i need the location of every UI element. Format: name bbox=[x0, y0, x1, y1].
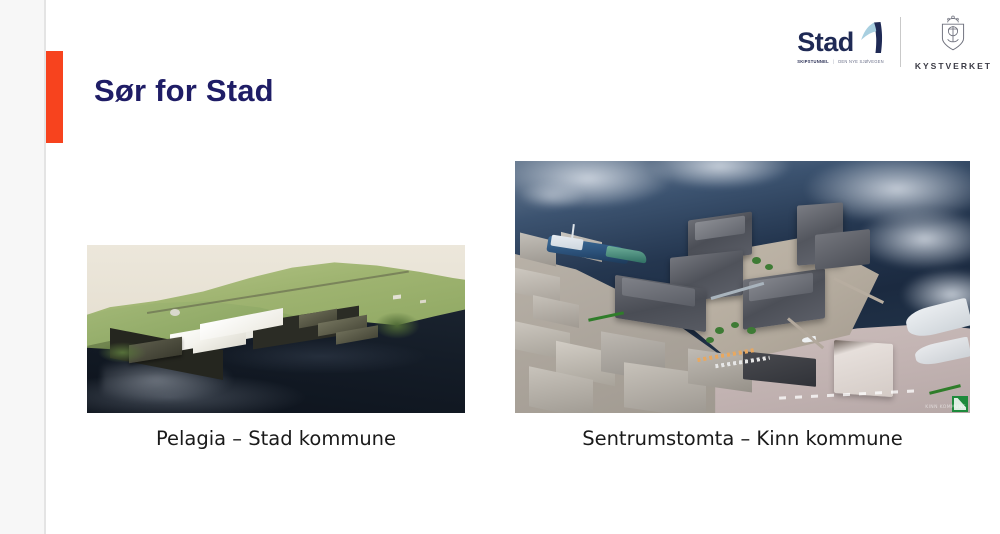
stad-wordmark: Stad bbox=[797, 30, 854, 56]
caption-pelagia: Pelagia – Stad kommune bbox=[87, 427, 465, 450]
presentation-slide: Sør for Stad Stad SKIPSTUNNEL | DEN bbox=[46, 0, 1000, 534]
render-tree-cluster-1 bbox=[98, 342, 147, 362]
stad-sail-icon bbox=[857, 21, 883, 55]
render-watermark: KINN KOMMUNE bbox=[925, 405, 966, 410]
render-tower-annex bbox=[815, 229, 870, 270]
stad-tagline-separator: | bbox=[833, 59, 834, 64]
figure-sentrumstomta: KINN KOMMUNE Sentrumstomta – Kinn kommun… bbox=[515, 161, 970, 413]
render-plaza-tree-5 bbox=[752, 257, 761, 264]
logo-divider bbox=[900, 17, 901, 67]
stad-tagline-primary: SKIPSTUNNEL bbox=[797, 59, 829, 64]
sentrumstomta-render-image: KINN KOMMUNE bbox=[515, 161, 970, 413]
render-tank bbox=[170, 309, 180, 316]
pelagia-render-image bbox=[87, 245, 465, 413]
kystverket-logo: KYSTVERKET bbox=[915, 14, 992, 71]
title-accent-bar bbox=[46, 51, 63, 143]
kystverket-wordmark: KYSTVERKET bbox=[915, 61, 992, 71]
caption-sentrumstomta: Sentrumstomta – Kinn kommune bbox=[515, 427, 970, 450]
stad-tagline-secondary: DEN NYE SJØVEGEN bbox=[838, 59, 884, 64]
page-title: Sør for Stad bbox=[94, 73, 274, 109]
render-cloud-reflection-2 bbox=[642, 161, 797, 191]
slide-viewer: Sør for Stad Stad SKIPSTUNNEL | DEN bbox=[0, 0, 1000, 534]
render-cloud-reflection-6 bbox=[515, 181, 588, 211]
stad-tagline: SKIPSTUNNEL | DEN NYE SJØVEGEN bbox=[797, 59, 884, 64]
render-tree-cluster-2 bbox=[374, 312, 419, 339]
kystverket-crest-icon bbox=[938, 14, 968, 57]
render-pink-building bbox=[834, 340, 893, 397]
figure-pelagia: Pelagia – Stad kommune bbox=[87, 245, 465, 413]
stad-logo: Stad SKIPSTUNNEL | DEN NYE SJØVEGEN bbox=[797, 21, 886, 64]
logo-strip: Stad SKIPSTUNNEL | DEN NYE SJØVEGEN bbox=[797, 12, 992, 72]
viewer-left-gutter bbox=[0, 0, 44, 534]
